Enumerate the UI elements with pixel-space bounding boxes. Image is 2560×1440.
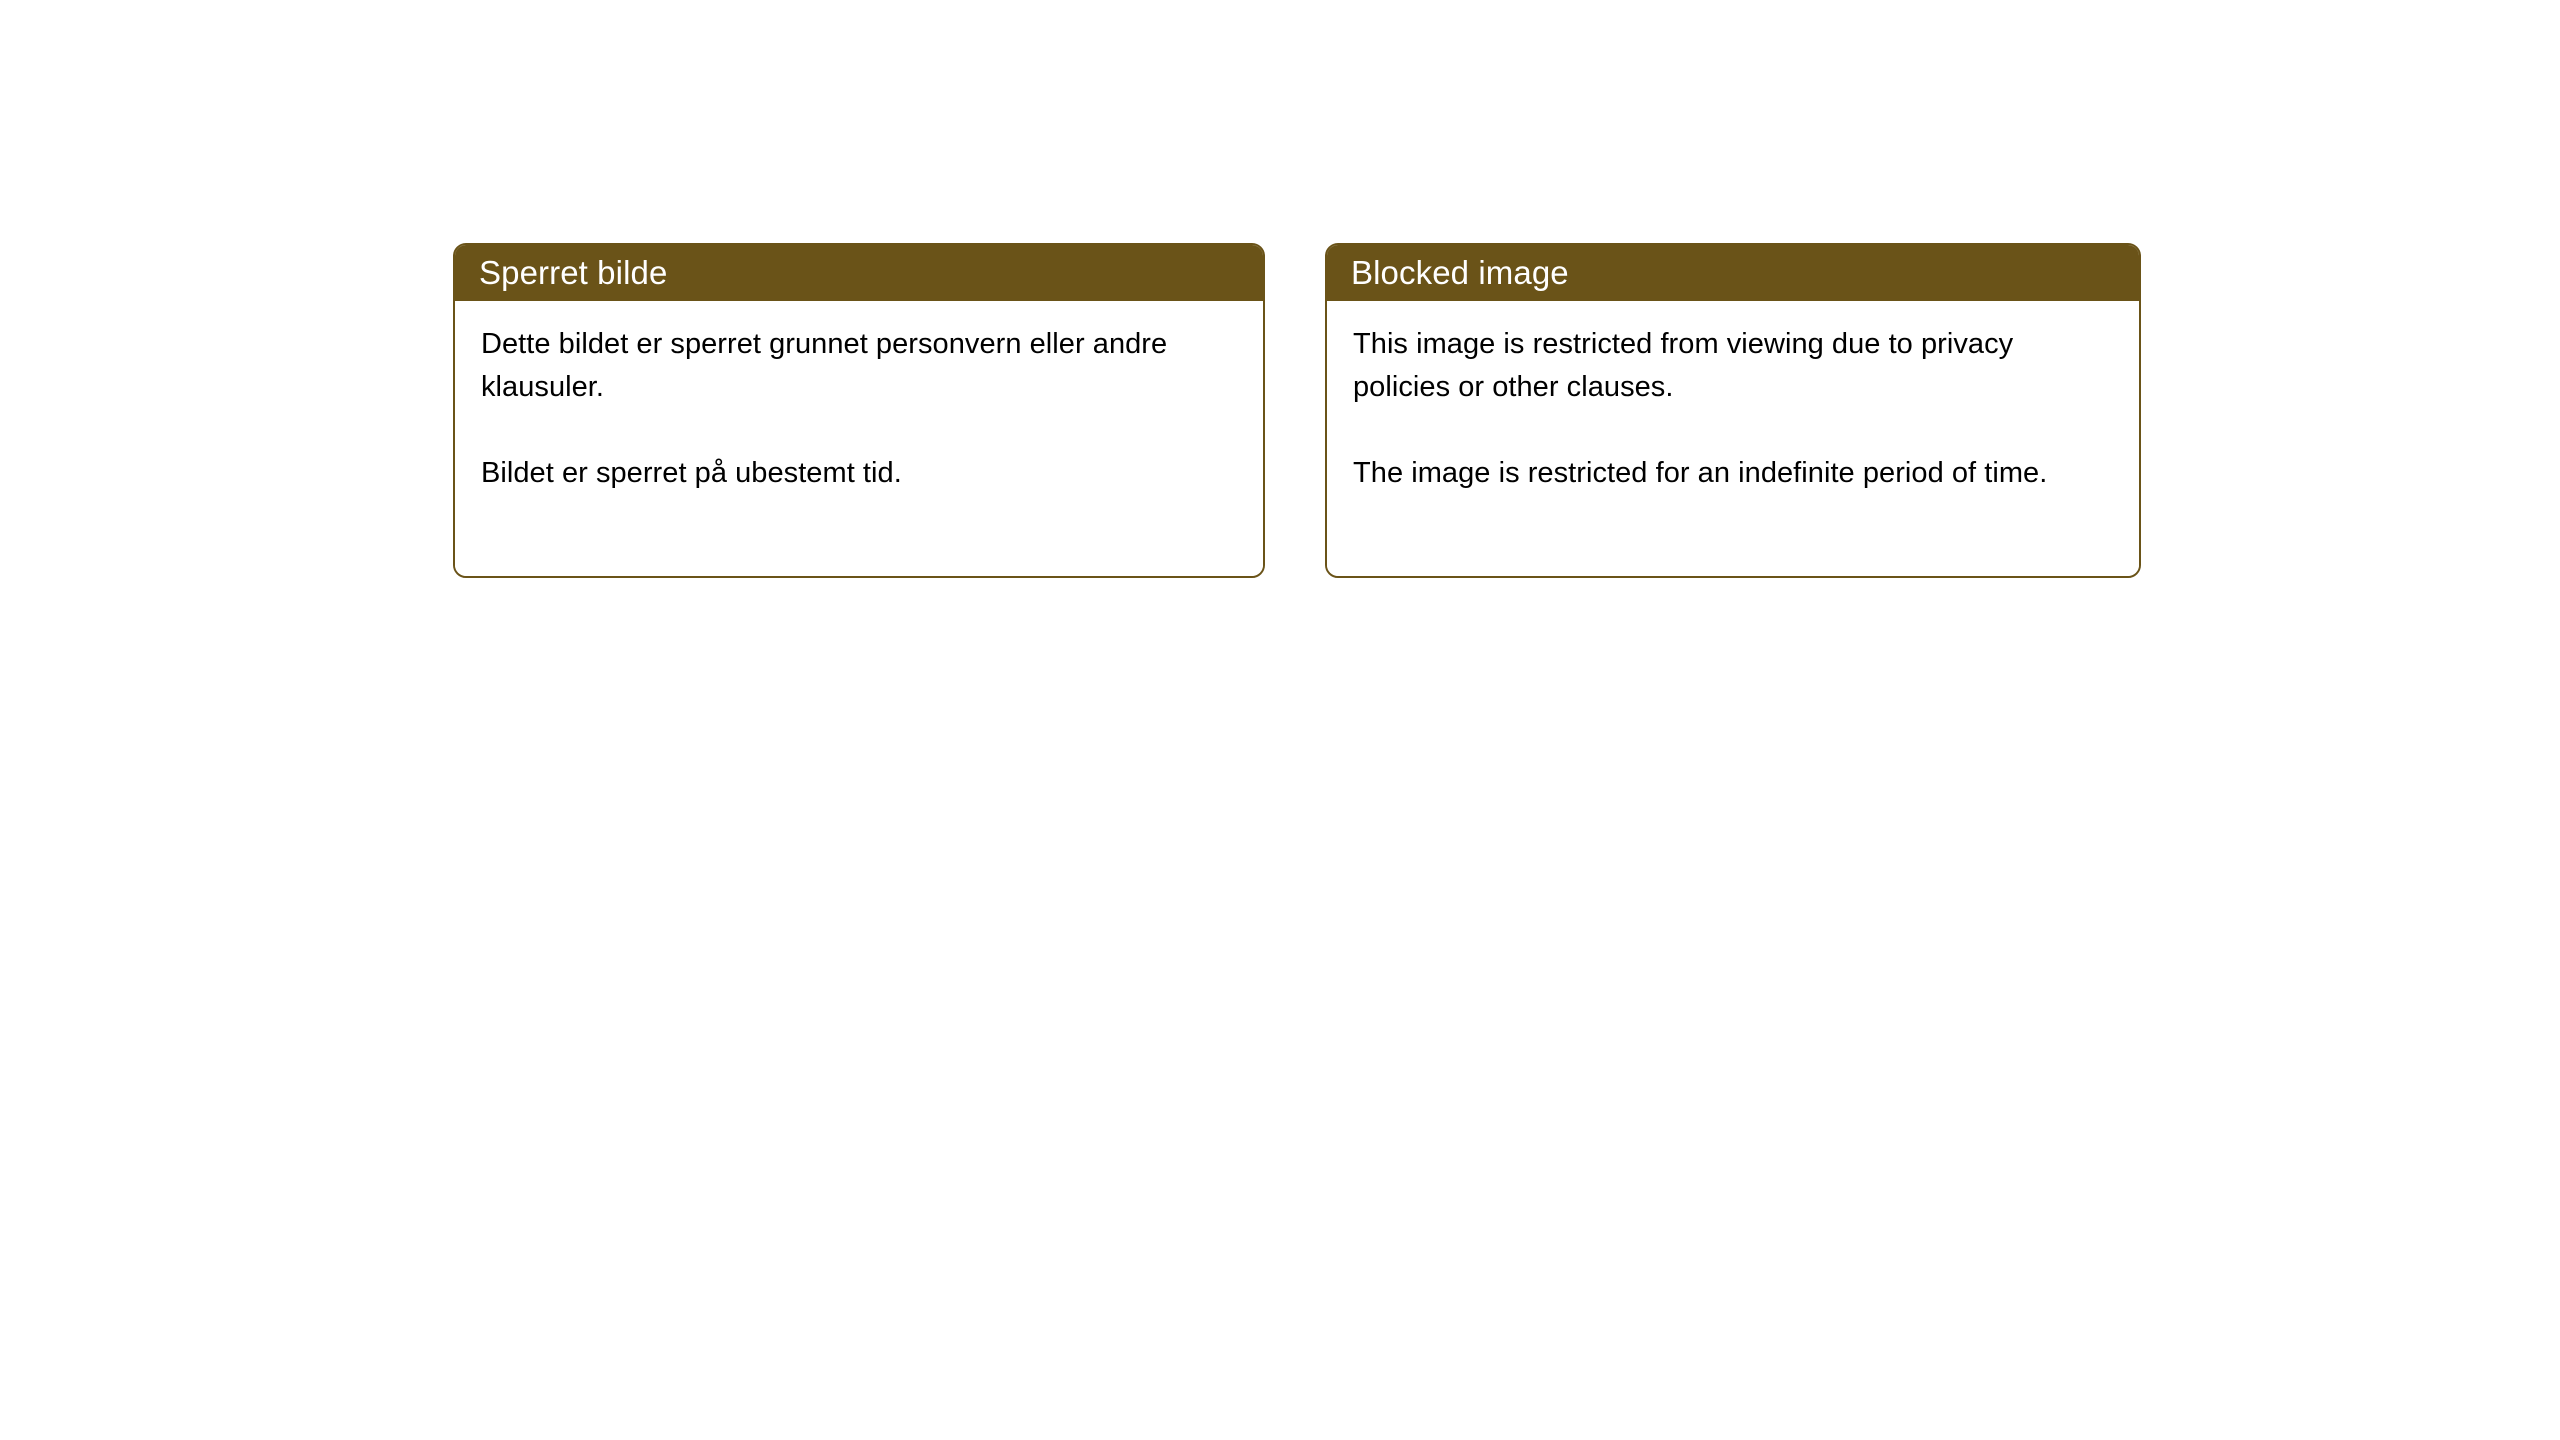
page-root: Sperret bilde Dette bildet er sperret gr… [0, 0, 2560, 1440]
card-header-english: Blocked image [1327, 245, 2139, 301]
card-paragraph: Dette bildet er sperret grunnet personve… [481, 323, 1237, 409]
card-body-norwegian: Dette bildet er sperret grunnet personve… [455, 301, 1263, 576]
card-paragraph: This image is restricted from viewing du… [1353, 323, 2113, 409]
card-header-norwegian: Sperret bilde [455, 245, 1263, 301]
card-title-english: Blocked image [1351, 255, 1569, 291]
card-paragraph: The image is restricted for an indefinit… [1353, 452, 2113, 495]
blocked-image-card-norwegian: Sperret bilde Dette bildet er sperret gr… [453, 243, 1265, 578]
card-body-english: This image is restricted from viewing du… [1327, 301, 2139, 576]
card-title-norwegian: Sperret bilde [479, 255, 667, 291]
blocked-image-card-english: Blocked image This image is restricted f… [1325, 243, 2141, 578]
notice-card-list: Sperret bilde Dette bildet er sperret gr… [453, 243, 2141, 578]
card-paragraph: Bildet er sperret på ubestemt tid. [481, 452, 1237, 495]
